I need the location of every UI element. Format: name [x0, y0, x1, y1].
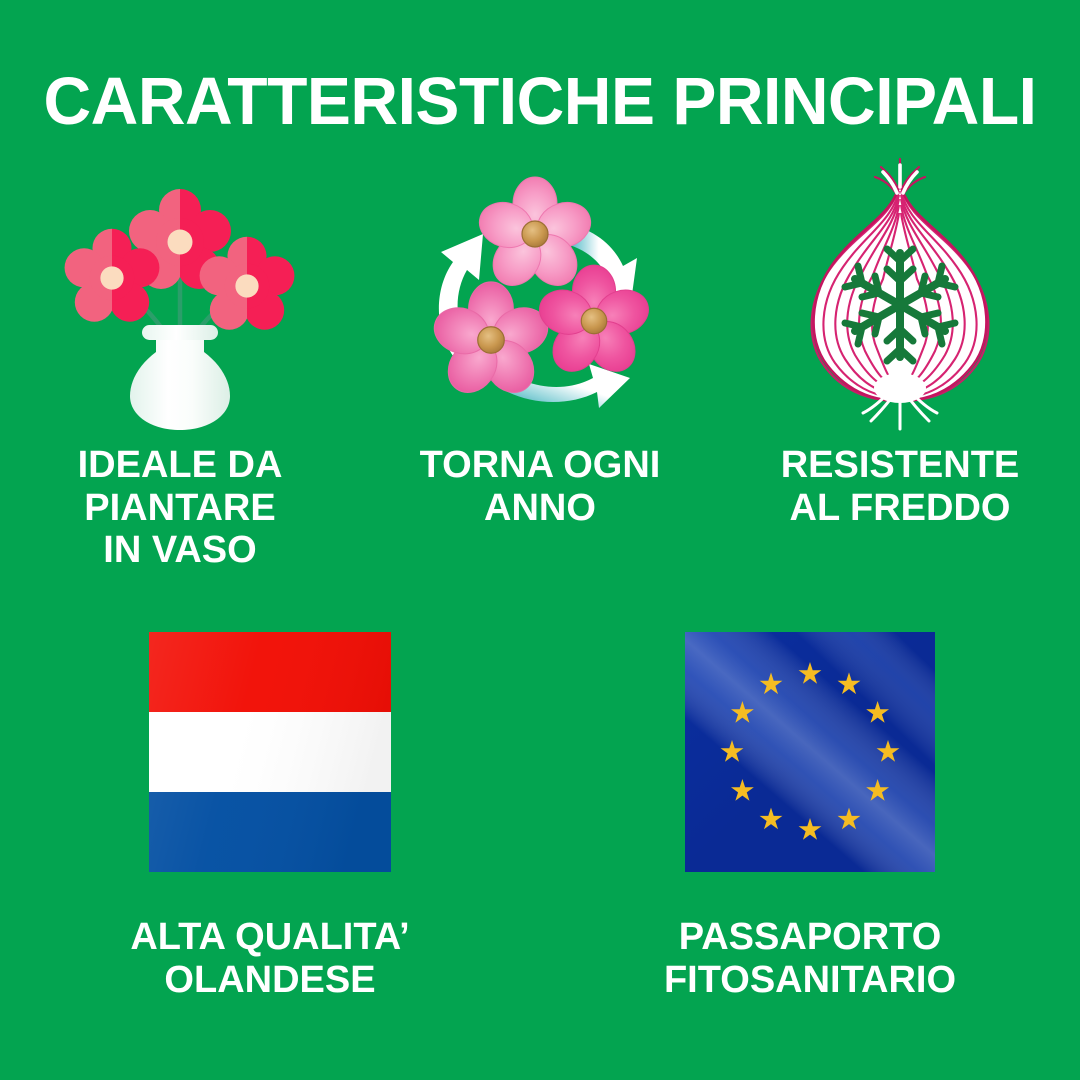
flower-cycle-icon: [409, 160, 671, 430]
infographic-page: CARATTERISTICHE PRINCIPALI: [0, 0, 1080, 1080]
certification-label: ALTA QUALITA’ OLANDESE: [130, 916, 409, 1001]
feature-ideale-da-piantare-in-vaso: IDEALE DA PIANTARE IN VASO: [0, 160, 360, 572]
feature-label: TORNA OGNI ANNO: [420, 444, 661, 529]
feature-label: IDEALE DA PIANTARE IN VASO: [78, 444, 283, 572]
feature-label: RESISTENTE AL FREDDO: [781, 444, 1020, 529]
certification-alta-qualita-olandese: ALTA QUALITA’ OLANDESE: [0, 620, 540, 1001]
features-row: IDEALE DA PIANTARE IN VASO: [0, 160, 1080, 600]
flower-vase-icon: [50, 160, 310, 430]
certification-label: PASSAPORTO FITOSANITARIO: [664, 916, 956, 1001]
certifications-row: ALTA QUALITA’ OLANDESE: [0, 620, 1080, 1040]
page-title: CARATTERISTICHE PRINCIPALI: [8, 68, 1072, 135]
feature-torna-ogni-anno: TORNA OGNI ANNO: [360, 160, 720, 529]
certification-passaporto-fitosanitario: PASSAPORTO FITOSANITARIO: [540, 620, 1080, 1001]
european-union-flag-icon: [685, 620, 935, 894]
netherlands-flag-icon: [149, 620, 391, 894]
feature-resistente-al-freddo: RESISTENTE AL FREDDO: [720, 160, 1080, 529]
cold-hardy-bulb-icon: [785, 160, 1015, 430]
